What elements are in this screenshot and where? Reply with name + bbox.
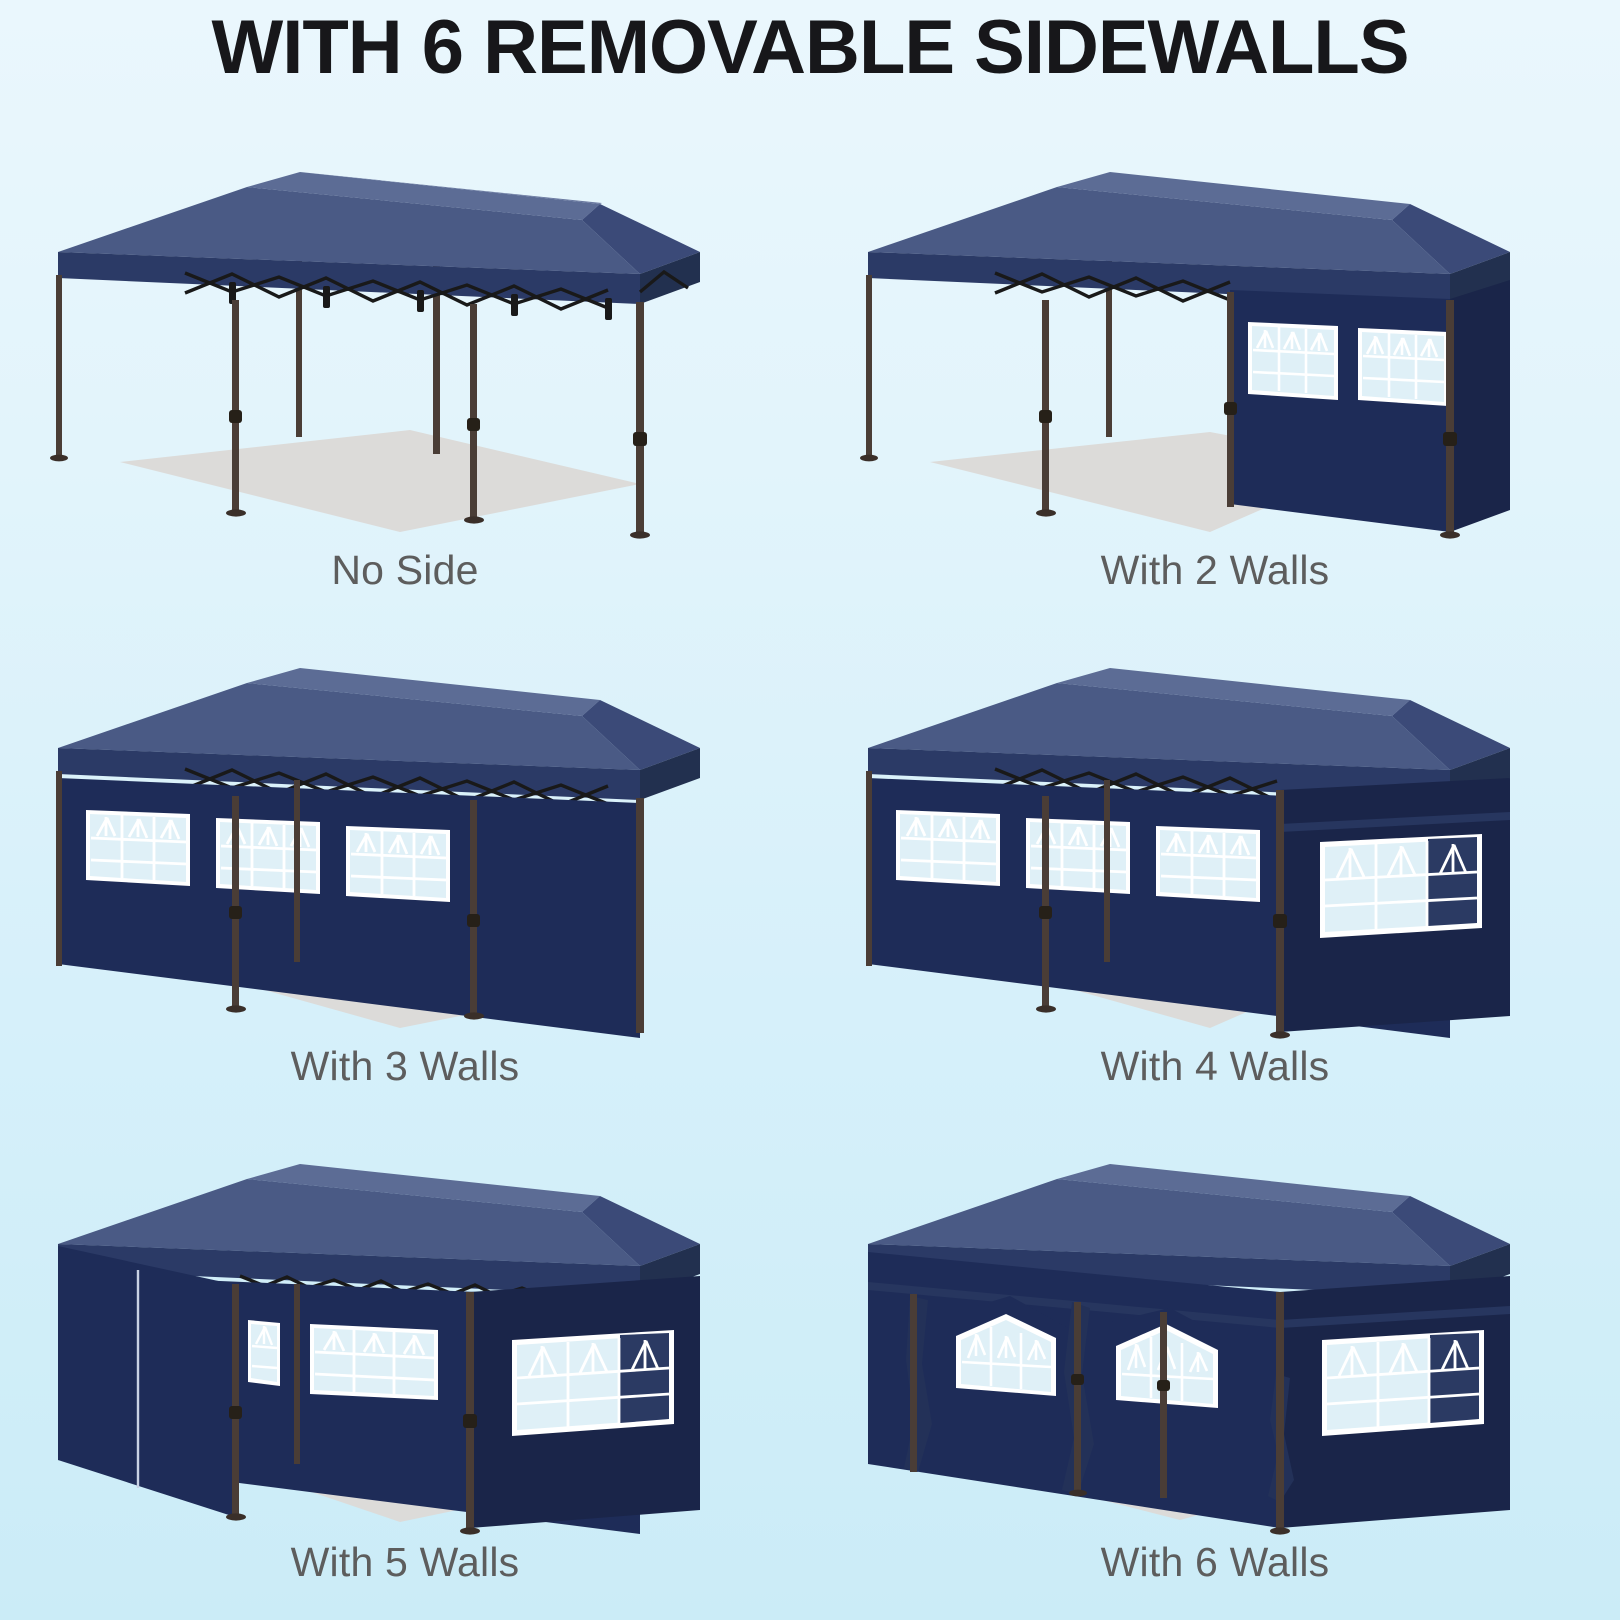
- leg-foot-plate: [464, 1012, 484, 1019]
- window-end: [1320, 834, 1482, 938]
- leg-height-adjuster: [463, 1414, 477, 1428]
- panel-caption-three-walls: With 3 Walls: [0, 1043, 810, 1090]
- tent-svg-two-walls: [810, 132, 1620, 562]
- leg-corner-right: [1276, 790, 1284, 1034]
- leg-interior-right: [1160, 1312, 1167, 1498]
- leg-interior-center: [1074, 1302, 1081, 1492]
- leg-foot-plate: [1069, 1490, 1087, 1497]
- tent-svg-no-side: [0, 132, 810, 562]
- leg-mid-left: [232, 300, 239, 512]
- tent-illustration-three-walls: [0, 628, 810, 1058]
- leg-mid-right: [470, 304, 477, 519]
- panel-caption-two-walls: With 2 Walls: [810, 547, 1620, 594]
- leg-foot-plate: [1036, 1005, 1056, 1012]
- leg-height-adjuster: [229, 410, 242, 423]
- leg-height-adjuster: [633, 432, 647, 446]
- tent-svg-six-walls: [810, 1124, 1620, 1554]
- panel-five-walls: With 5 Walls: [0, 1124, 810, 1620]
- leg-height-adjuster: [1039, 410, 1052, 423]
- leg-mid-left: [232, 1284, 239, 1516]
- tent-variant-grid: No Side: [0, 132, 1620, 1620]
- leg-front-right: [1446, 300, 1454, 534]
- leg-front-right: [636, 798, 644, 1033]
- leg-mid-left: [232, 796, 239, 1008]
- leg-front-left: [56, 771, 62, 966]
- leg-height-adjuster: [467, 418, 480, 431]
- leg-height-adjuster: [229, 1406, 242, 1419]
- sidewall-end-left-closed: [58, 1246, 232, 1516]
- leg-foot-plate: [1440, 531, 1460, 538]
- leg-height-adjuster: [229, 906, 242, 919]
- leg-foot-plate: [630, 531, 650, 538]
- window-end: [512, 1330, 674, 1436]
- infographic-page: WITH 6 REMOVABLE SIDEWALLS: [0, 0, 1620, 1620]
- tent-illustration-two-walls: [810, 132, 1620, 562]
- tent-svg-four-walls: [810, 628, 1620, 1058]
- leg-foot-plate: [50, 455, 68, 462]
- leg-height-adjuster: [1443, 432, 1457, 446]
- leg-mid-right: [470, 800, 477, 1015]
- panel-four-walls: With 4 Walls: [810, 628, 1620, 1124]
- leg-rear-mid: [1104, 780, 1110, 962]
- leg-foot-plate: [464, 516, 484, 523]
- leg-foot-plate: [226, 509, 246, 516]
- leg-front-left: [866, 275, 872, 457]
- leg-height-adjuster: [1157, 1380, 1170, 1391]
- panel-caption-five-walls: With 5 Walls: [0, 1539, 810, 1586]
- tent-illustration-no-side: [0, 132, 810, 562]
- leg-corner-right: [466, 1292, 474, 1530]
- tent-illustration-five-walls: [0, 1124, 810, 1554]
- leg-rear-mid: [294, 780, 300, 962]
- leg-front-left: [56, 275, 62, 457]
- sidewall-end-right: [1450, 280, 1510, 532]
- leg-mid-left: [1042, 796, 1049, 1008]
- leg-foot-plate: [460, 1527, 480, 1534]
- tent-svg-three-walls: [0, 628, 810, 1058]
- page-title: WITH 6 REMOVABLE SIDEWALLS: [0, 10, 1620, 86]
- leg-mid-left: [1042, 300, 1049, 512]
- leg-foot-plate: [1270, 1527, 1290, 1534]
- leg-foot-plate: [226, 1005, 246, 1012]
- panel-six-walls: With 6 Walls: [810, 1124, 1620, 1620]
- leg-height-adjuster: [1273, 914, 1287, 928]
- leg-mid-right: [1227, 292, 1234, 507]
- leg-height-adjuster: [1224, 402, 1237, 415]
- panel-three-walls: With 3 Walls: [0, 628, 810, 1124]
- leg-front-left: [866, 771, 872, 966]
- leg-foot-plate: [860, 455, 878, 462]
- leg-rear-mid: [294, 1284, 300, 1464]
- panel-no-side: No Side: [0, 132, 810, 628]
- leg-front-right: [636, 302, 644, 534]
- leg-interior-left: [910, 1294, 917, 1472]
- leg-height-adjuster: [1039, 906, 1052, 919]
- leg-foot-plate: [1036, 509, 1056, 516]
- tent-svg-five-walls: [0, 1124, 810, 1554]
- panel-caption-no-side: No Side: [0, 547, 810, 594]
- tent-illustration-six-walls: [810, 1124, 1620, 1554]
- leg-height-adjuster: [1071, 1374, 1084, 1385]
- tent-illustration-four-walls: [810, 628, 1620, 1058]
- panel-two-walls: With 2 Walls: [810, 132, 1620, 628]
- ground-shadow: [120, 430, 640, 532]
- leg-corner-right: [1276, 1292, 1284, 1530]
- panel-caption-six-walls: With 6 Walls: [810, 1539, 1620, 1586]
- leg-foot-plate: [226, 1513, 246, 1520]
- window-end: [1322, 1330, 1484, 1436]
- leg-foot-plate: [1270, 1031, 1290, 1038]
- panel-caption-four-walls: With 4 Walls: [810, 1043, 1620, 1090]
- leg-height-adjuster: [467, 914, 480, 927]
